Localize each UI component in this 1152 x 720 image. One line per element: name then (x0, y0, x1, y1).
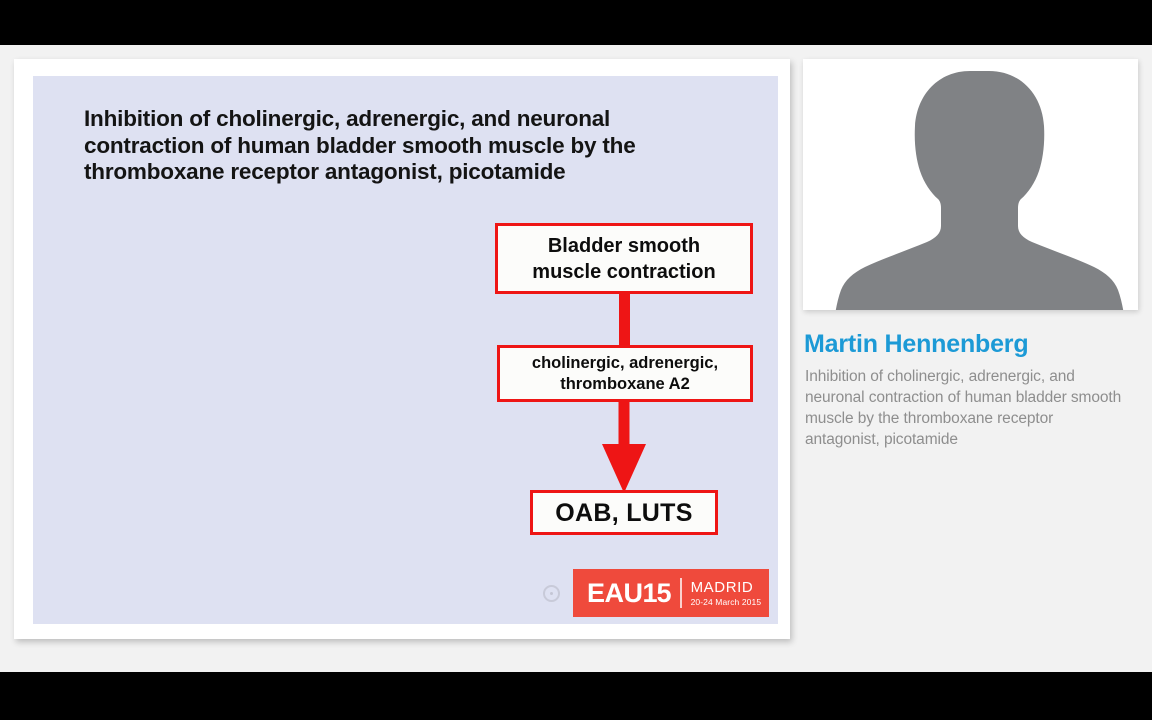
slide-content-area: Inhibition of cholinergic, adrenergic, a… (0, 45, 1152, 672)
slide-title: Inhibition of cholinergic, adrenergic, a… (84, 106, 704, 186)
eau-logo-dates: 20-24 March 2015 (691, 598, 762, 607)
slide-canvas: Inhibition of cholinergic, adrenergic, a… (33, 76, 778, 624)
speaker-panel: Martin Hennenberg Inhibition of choliner… (803, 59, 1138, 639)
flow-box-bladder-contraction: Bladder smooth muscle contraction (495, 223, 753, 294)
flow-box-outcome: OAB, LUTS (530, 490, 718, 535)
circle-mark-icon (543, 585, 560, 602)
eau-logo-city: MADRID (691, 580, 762, 595)
flow-box-label: OAB, LUTS (555, 499, 692, 527)
letterbox-bottom-bar (0, 672, 1152, 720)
eau-congress-logo: EAU15 MADRID 20-24 March 2015 (573, 569, 769, 617)
speaker-name: Martin Hennenberg (804, 332, 1028, 357)
vertical-line-icon (619, 293, 630, 347)
flow-box-label: Bladder smooth muscle contraction (532, 233, 715, 285)
eau-logo-brand-text: EAU (587, 578, 643, 608)
eau-logo-year: 15 (643, 578, 671, 608)
eau-logo-divider (680, 578, 682, 608)
speaker-avatar-card[interactable] (803, 59, 1138, 310)
eau-logo-details: MADRID 20-24 March 2015 (691, 580, 762, 607)
flow-box-label: cholinergic, adrenergic, thromboxane A2 (532, 353, 718, 395)
letterbox-top-bar (0, 0, 1152, 45)
down-arrow-icon (598, 401, 650, 493)
flow-box-mediators: cholinergic, adrenergic, thromboxane A2 (497, 345, 753, 402)
person-silhouette-avatar-icon (803, 59, 1138, 310)
speaker-presentation-title: Inhibition of cholinergic, adrenergic, a… (805, 366, 1129, 450)
slide-card[interactable]: Inhibition of cholinergic, adrenergic, a… (14, 59, 790, 639)
video-stage: Inhibition of cholinergic, adrenergic, a… (0, 0, 1152, 720)
eau-logo-brand: EAU15 (587, 580, 671, 607)
